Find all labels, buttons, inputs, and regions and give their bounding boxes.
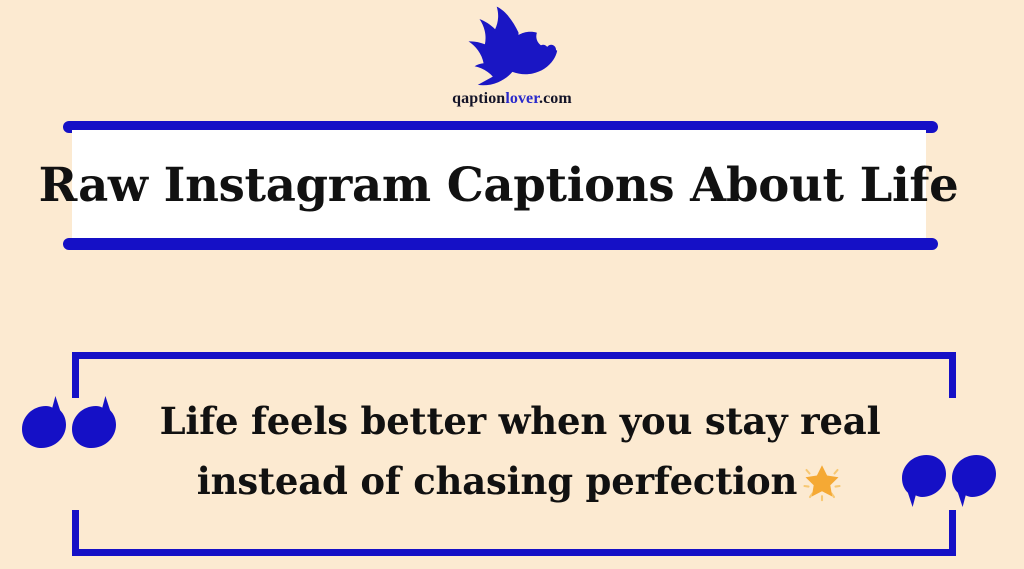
open-quote-mark-icon [22,396,70,448]
brand-part-one: qaption [452,90,505,107]
brand-logo[interactable]: qaptionlover.com [0,4,1024,108]
quote-line-1: Life feels better when you stay real [160,399,881,443]
frame-right-top-stub [949,352,956,398]
open-quote-mark-icon [72,396,120,448]
frame-left-top-stub [72,352,79,398]
poster-canvas: qaptionlover.com Raw Instagram Captions … [0,0,1024,569]
brand-part-three: .com [539,90,572,107]
dove-with-heart-icon [458,4,566,88]
page-title: Raw Instagram Captions About Life [39,162,959,209]
title-banner: Raw Instagram Captions About Life [63,121,938,250]
close-quote-mark-icon [948,455,996,507]
banner-plate: Raw Instagram Captions About Life [72,130,926,241]
glowing-star-emoji [801,461,843,503]
frame-top-edge [72,352,956,359]
banner-bottom-rule [63,238,938,250]
brand-part-two: lover [505,90,539,107]
frame-bottom-edge [72,549,956,556]
quote-text-block: Life feels better when you stay real ins… [140,392,900,512]
quote-line-2: instead of chasing perfection [197,459,797,503]
brand-wordmark: qaptionlover.com [452,90,572,108]
frame-left-bottom-stub [72,510,79,556]
frame-right-bottom-stub [949,510,956,556]
close-quote-mark-icon [898,455,946,507]
